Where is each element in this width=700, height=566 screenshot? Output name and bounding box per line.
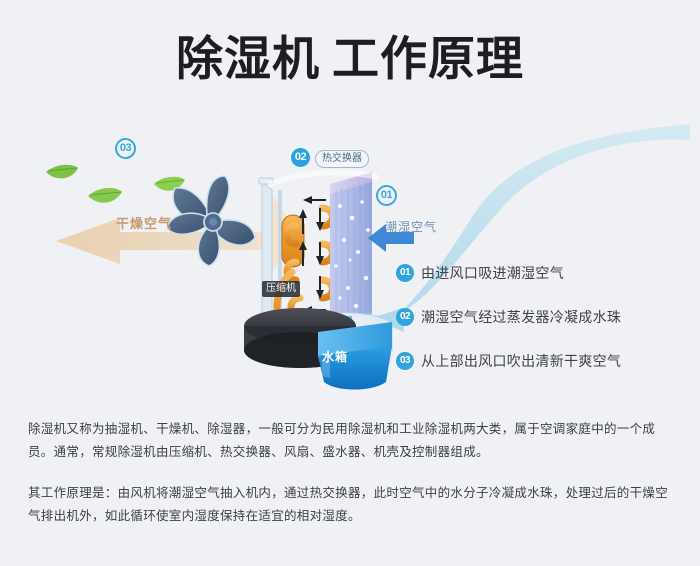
callout-heat-exchanger: 热交换器	[315, 150, 369, 168]
badge-heat-exchanger: 02	[291, 148, 310, 167]
label-humid-air: 潮湿空气	[385, 218, 437, 235]
step-text-02: 潮湿空气经过蒸发器冷凝成水珠	[421, 307, 621, 327]
chip-compressor: 压缩机	[262, 281, 300, 297]
badge-dry-air: 03	[115, 138, 136, 159]
badge-humid-air: 01	[376, 185, 397, 206]
page-root: 除湿机工作原理	[0, 0, 700, 566]
title-text: 除湿机工作原理	[176, 30, 524, 88]
page-title: 除湿机工作原理	[0, 30, 700, 88]
title-part1: 除湿机	[176, 32, 320, 85]
step-badge-03: 03	[396, 352, 414, 370]
step-text-01: 由进风口吸进潮湿空气	[421, 263, 564, 283]
steps-list: 01 由进风口吸进潮湿空气 02 潮湿空气经过蒸发器冷凝成水珠 03 从上部出风…	[396, 255, 686, 387]
step-badge-02: 02	[396, 308, 414, 326]
paragraph-2: 其工作原理是：由风机将潮湿空气抽入机内，通过热交换器，此时空气中的水分子冷凝成水…	[28, 482, 676, 528]
evaporator-fin-block	[330, 172, 372, 328]
step-badge-01: 01	[396, 264, 414, 282]
body-copy: 除湿机又称为抽湿机、干燥机、除湿器，一般可分为民用除湿机和工业除湿机两大类，属于…	[28, 418, 676, 528]
fan-icon	[167, 176, 255, 266]
label-water-tank: 水箱	[322, 348, 348, 365]
step-text-03: 从上部出风口吹出清新干爽空气	[421, 351, 621, 371]
list-item: 03 从上部出风口吹出清新干爽空气	[396, 343, 686, 379]
title-part2: 工作原理	[332, 32, 524, 85]
label-dry-air: 干燥空气	[116, 213, 172, 232]
list-item: 01 由进风口吸进潮湿空气	[396, 255, 686, 291]
paragraph-1: 除湿机又称为抽湿机、干燥机、除湿器，一般可分为民用除湿机和工业除湿机两大类，属于…	[28, 418, 676, 464]
list-item: 02 潮湿空气经过蒸发器冷凝成水珠	[396, 299, 686, 335]
